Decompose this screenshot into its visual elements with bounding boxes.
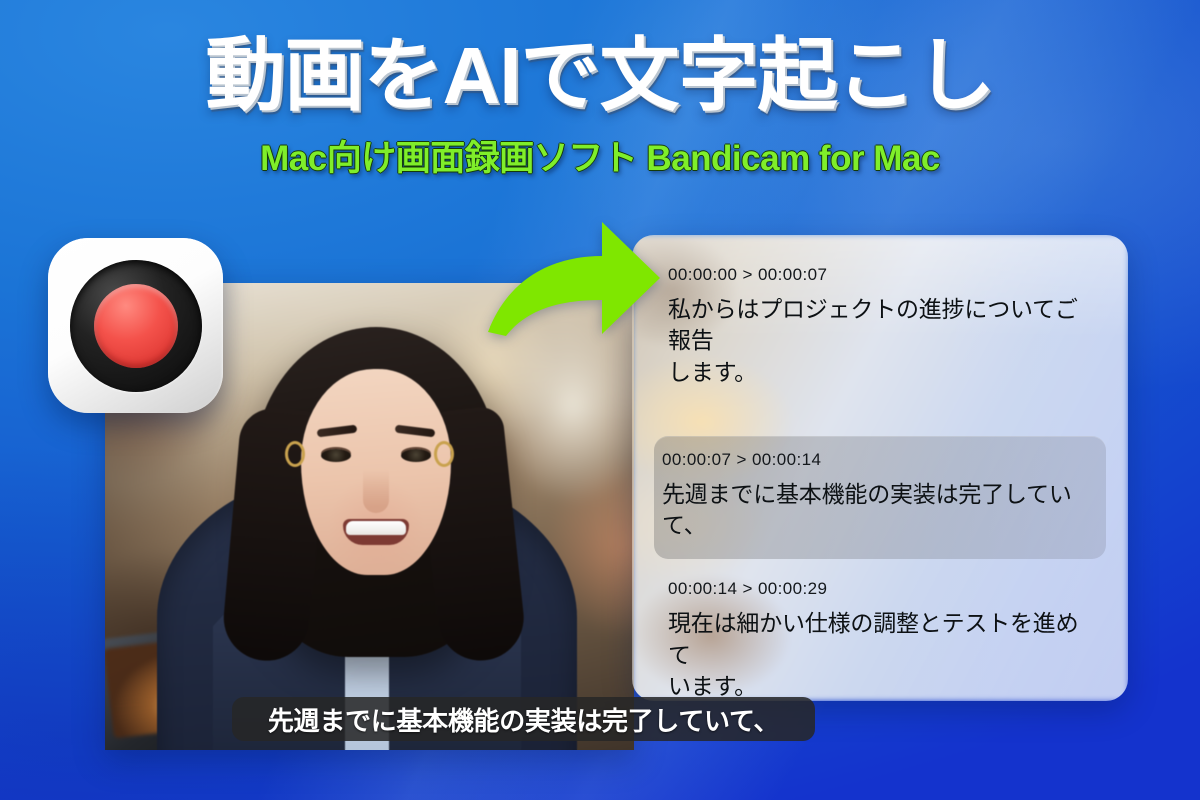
transcript-text-line: 現在は細かい仕様の調整とテストを進めて	[668, 608, 1096, 671]
arrow-shape	[488, 222, 660, 336]
transcript-row[interactable]: 00:00:14 > 00:00:29現在は細かい仕様の調整とテストを進めていま…	[660, 573, 1106, 701]
subtitle-caption: 先週までに基本機能の実装は完了していて、	[232, 697, 815, 741]
transcript-panel[interactable]: 00:00:00 > 00:00:07私からはプロジェクトの進捗についてご報告し…	[632, 235, 1128, 701]
subtitle-caption-text: 先週までに基本機能の実装は完了していて、	[268, 701, 779, 738]
transcript-timestamp: 00:00:07 > 00:00:14	[662, 450, 1096, 470]
transcript-text-line: 私からはプロジェクトの進捗についてご報告	[668, 294, 1096, 357]
green-curved-arrow	[484, 216, 664, 338]
bandicam-app-icon[interactable]	[48, 238, 223, 413]
transcript-row[interactable]: 00:00:00 > 00:00:07私からはプロジェクトの進捗についてご報告し…	[660, 259, 1106, 402]
transcript-text-line: します。	[668, 357, 1096, 388]
page-title: 動画をAIで文字起こし	[0, 36, 1200, 116]
transcript-row[interactable]: 00:00:07 > 00:00:14先週までに基本機能の実装は完了していて、	[654, 436, 1106, 560]
transcript-timestamp: 00:00:14 > 00:00:29	[668, 579, 1096, 599]
transcript-text-line: 先週までに基本機能の実装は完了していて、	[662, 479, 1096, 542]
transcript-row-gap	[660, 402, 1106, 424]
transcript-list[interactable]: 00:00:00 > 00:00:07私からはプロジェクトの進捗についてご報告し…	[632, 235, 1128, 701]
transcript-timestamp: 00:00:00 > 00:00:07	[668, 265, 1096, 285]
hero-text-block: 動画をAIで文字起こし Mac向け画面録画ソフト Bandicam for Ma…	[0, 36, 1200, 181]
record-dot-icon	[94, 284, 178, 368]
record-ring-icon	[70, 260, 202, 392]
promo-banner: 動画をAIで文字起こし Mac向け画面録画ソフト Bandicam for Ma…	[0, 0, 1200, 800]
page-subtitle: Mac向け画面録画ソフト Bandicam for Mac	[0, 130, 1200, 181]
